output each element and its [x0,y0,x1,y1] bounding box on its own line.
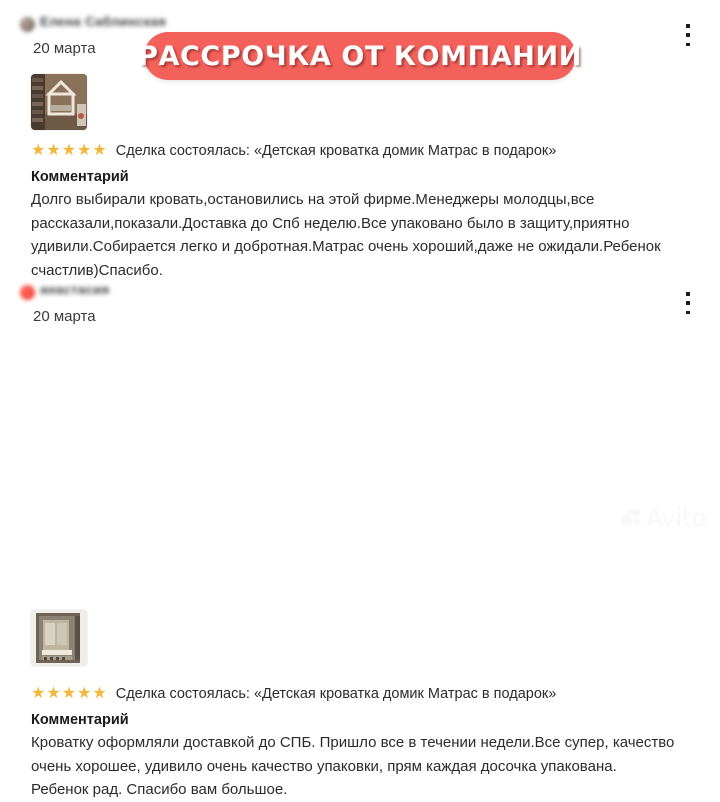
deal-status-text: Сделка состоялась: «Детская кроватка дом… [116,143,557,159]
review-card: Елена Саблинская 20 марта [0,0,720,26]
reviewer-name: Елена Саблинская [40,14,166,29]
logo-dot [621,515,632,526]
avito-logo-icon [621,508,642,528]
review-photo-image [31,610,87,666]
star-icon: ★ [92,686,106,702]
avito-watermark: Avito [621,505,706,530]
reviewer-name: анастасия [40,282,110,297]
kebab-dot [686,301,690,305]
kebab-dot [686,24,690,28]
star-icon: ★ [62,686,76,702]
review-date: 20 марта [33,308,96,325]
star-rating-icon: ★ ★ ★ ★ ★ [31,686,107,702]
rating-row: ★ ★ ★ ★ ★ Сделка состоялась: «Детская кр… [31,143,691,159]
review-photo-image [31,74,87,130]
comment-text: Кроватку оформляли доставкой до СПБ. При… [31,731,675,802]
star-icon: ★ [31,686,45,702]
review-header: анастасия [0,268,720,294]
more-options-icon[interactable] [680,24,696,46]
kebab-dot [686,43,690,47]
more-options-icon[interactable] [680,292,696,314]
deal-status-text: Сделка состоялась: «Детская кроватка дом… [116,686,557,702]
star-icon: ★ [77,686,91,702]
review-header: Елена Саблинская [0,0,720,26]
promo-banner-text: РАССРОЧКА ОТ КОМПАНИИ [138,41,582,72]
star-icon: ★ [62,143,76,159]
star-rating-icon: ★ ★ ★ ★ ★ [31,143,107,159]
star-icon: ★ [46,143,60,159]
kebab-dot [686,292,690,296]
comment-label: Комментарий [31,712,129,728]
review-date: 20 марта [33,40,96,57]
star-icon: ★ [31,143,45,159]
avatar [20,285,35,300]
review-photo-thumbnail[interactable] [31,610,87,666]
review-card: анастасия 20 марта [0,268,720,294]
reviews-page: Елена Саблинская 20 марта [0,0,720,540]
kebab-dot [686,33,690,37]
kebab-dot [686,311,690,315]
promo-banner[interactable]: РАССРОЧКА ОТ КОМПАНИИ [144,32,576,80]
logo-dot [633,518,640,525]
review-photo-thumbnail[interactable] [31,74,87,130]
avatar [20,17,35,32]
rating-row: ★ ★ ★ ★ ★ Сделка состоялась: «Детская кр… [31,686,691,702]
star-icon: ★ [46,686,60,702]
comment-label: Комментарий [31,169,129,185]
logo-dot [632,508,640,516]
star-icon: ★ [92,143,106,159]
avito-watermark-text: Avito [646,505,706,530]
star-icon: ★ [77,143,91,159]
logo-dot [627,509,632,514]
